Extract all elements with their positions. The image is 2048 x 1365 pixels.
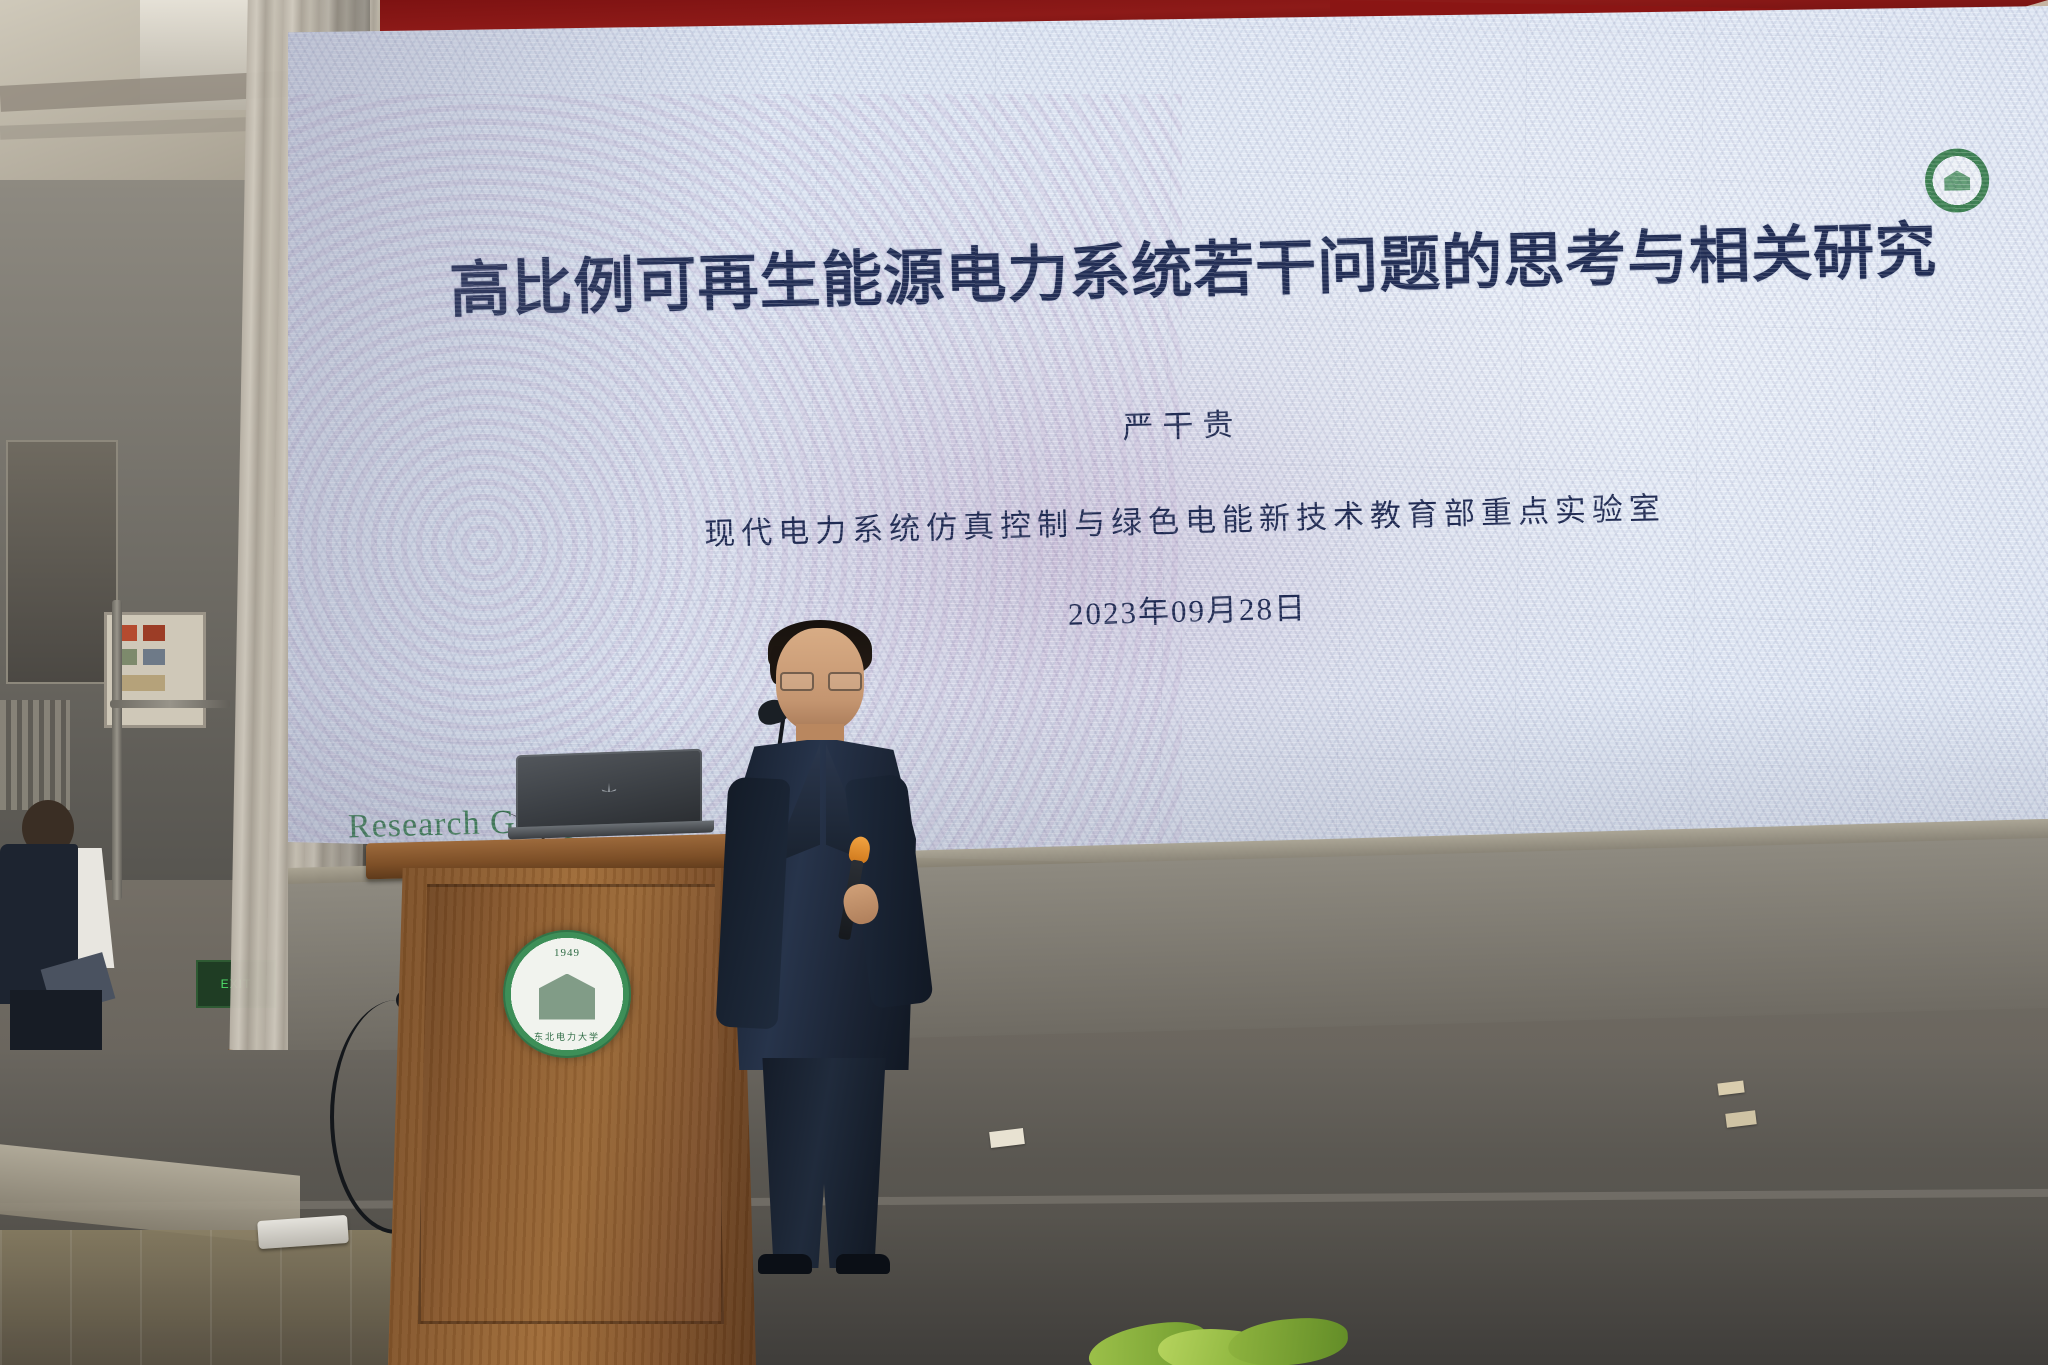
speaker-shoe-right — [836, 1254, 890, 1274]
radiator — [0, 700, 70, 810]
left-doorway — [6, 440, 118, 684]
group-mark-cn — [330, 812, 331, 845]
podium: 1949 东北电力大学 — [388, 838, 758, 1365]
seal-year: 1949 — [554, 947, 580, 959]
seal-building-glyph — [539, 974, 595, 1020]
laptop — [516, 749, 702, 843]
floor-tiles — [0, 1230, 400, 1365]
slide-author-name: 严干贵 — [287, 376, 2048, 469]
slide-date: 2023年09月28日 — [292, 561, 2048, 654]
laptop-lid — [516, 749, 702, 829]
slide-title: 高比例可再生能源电力系统若干问题的思考与相关研究 — [282, 196, 2048, 334]
speaker-arm-left — [716, 777, 791, 1030]
emblem-building-glyph — [1944, 170, 1971, 191]
potted-plant — [1088, 1285, 1348, 1365]
speaker-shoe-left — [758, 1254, 812, 1274]
wall-pipe-horizontal — [110, 700, 230, 708]
seal-chinese-name: 东北电力大学 — [534, 1030, 600, 1043]
slide-affiliation: 现代电力系统仿真控制与绿色电能新技术教育部重点实验室 — [290, 471, 2048, 564]
speaker-person — [718, 628, 928, 1228]
speaker-glasses-icon — [780, 672, 860, 688]
university-seal-icon: 1949 东北电力大学 — [503, 930, 631, 1058]
conference-photo-scene: EXIT 高比例可再生能源电力系统若干问题的思考与相关研究 严干贵 现代电力系统… — [0, 0, 2048, 1365]
laptop-logo-icon — [597, 781, 621, 804]
